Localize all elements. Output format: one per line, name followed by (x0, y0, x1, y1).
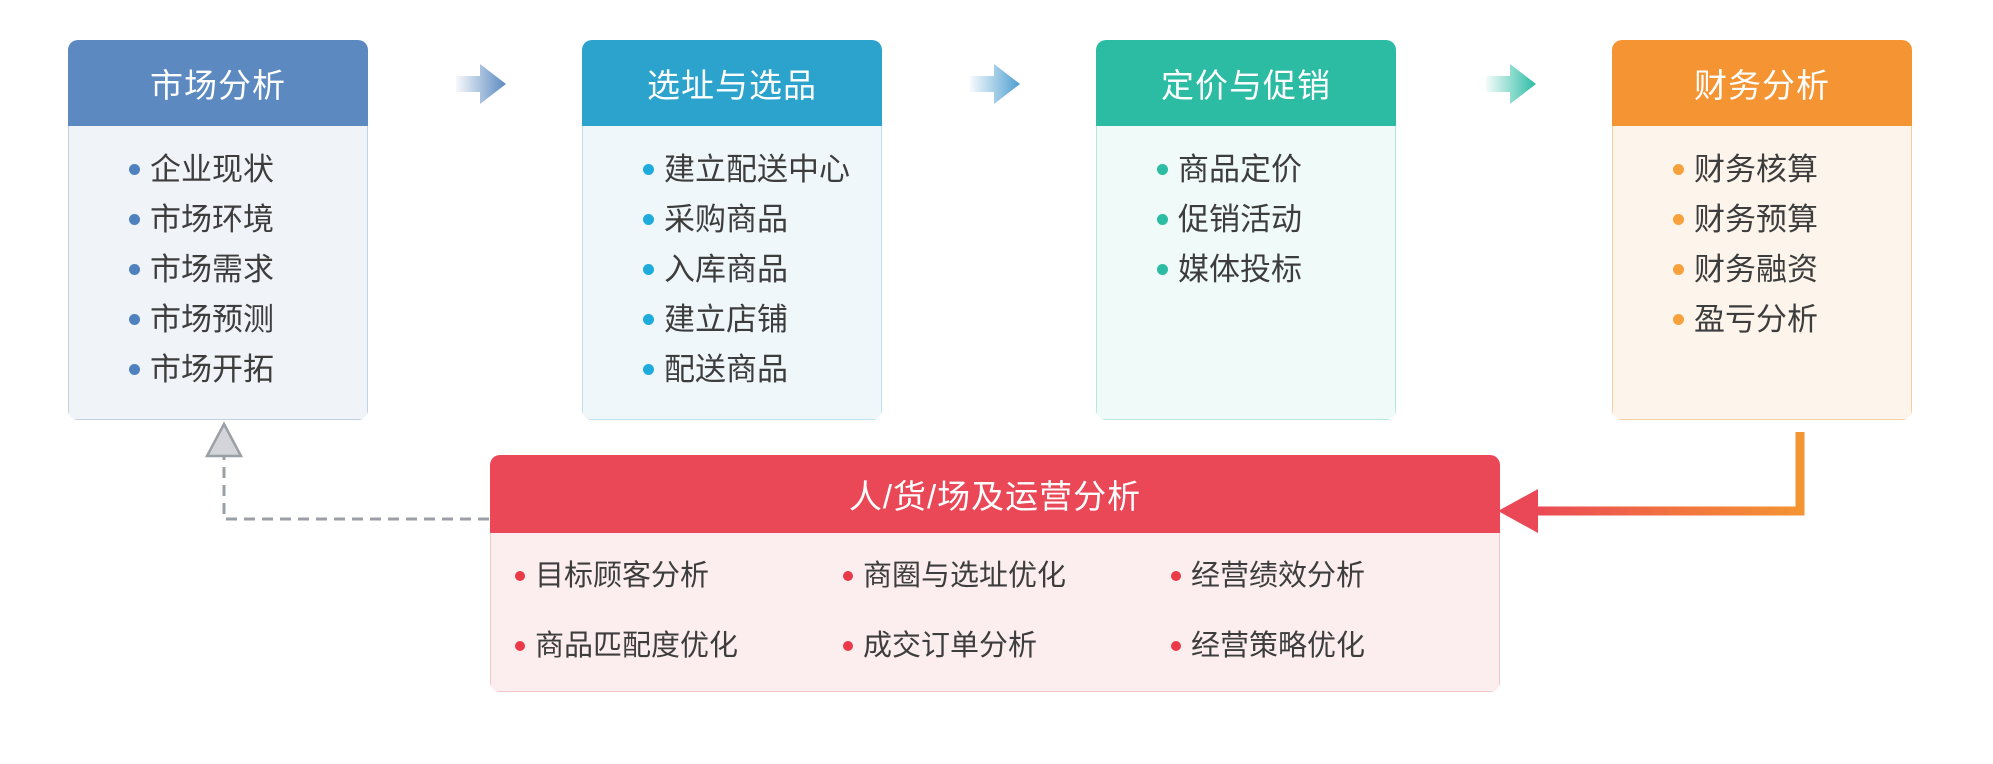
bullet-dot-icon (843, 641, 853, 651)
list-item-label: 财务融资 (1694, 254, 1818, 285)
list-item[interactable]: 财务融资 (1613, 244, 1911, 294)
list-item-label: 媒体投标 (1178, 254, 1302, 285)
bullet-dot-icon (643, 214, 654, 225)
bullet-dot-icon (1157, 164, 1168, 175)
analysis-panel-body: 目标顾客分析 商圈与选址优化 经营绩效分析 商品匹配度优化 成交订单分析 经营策… (490, 533, 1500, 692)
list-item[interactable]: 采购商品 (583, 194, 881, 244)
stage-card-header: 选址与选品 (582, 40, 882, 126)
stage-card-site-and-product-selection[interactable]: 选址与选品 建立配送中心 采购商品 入库商品 建立店铺 (582, 40, 882, 420)
bullet-dot-icon (129, 164, 140, 175)
list-item-label: 成交订单分析 (863, 632, 1037, 661)
list-item[interactable]: 商品定价 (1097, 144, 1395, 194)
list-item-label: 市场预测 (150, 304, 274, 335)
list-item[interactable]: 目标顾客分析 (515, 541, 843, 611)
stage-card-header: 市场分析 (68, 40, 368, 126)
bullet-dot-icon (129, 364, 140, 375)
diagram-canvas: 市场分析 企业现状 市场环境 市场需求 市场预测 (0, 0, 1993, 764)
list-item-label: 市场需求 (150, 254, 274, 285)
bullet-dot-icon (1673, 264, 1684, 275)
list-item-label: 盈亏分析 (1694, 304, 1818, 335)
list-item[interactable]: 市场需求 (69, 244, 367, 294)
stage-card-header: 财务分析 (1612, 40, 1912, 126)
bullet-dot-icon (515, 571, 525, 581)
list-item[interactable]: 经营绩效分析 (1171, 541, 1499, 611)
bullet-dot-icon (843, 571, 853, 581)
stage-item-list: 建立配送中心 采购商品 入库商品 建立店铺 配送商品 (583, 144, 881, 394)
list-item[interactable]: 配送商品 (583, 344, 881, 394)
stage-item-list: 商品定价 促销活动 媒体投标 (1097, 144, 1395, 294)
flow-arrow-right-icon (966, 55, 1024, 113)
list-item-label: 建立店铺 (664, 304, 788, 335)
list-item-label: 促销活动 (1178, 204, 1302, 235)
list-item-label: 商品定价 (1178, 154, 1302, 185)
list-item[interactable]: 入库商品 (583, 244, 881, 294)
analysis-panel[interactable]: 人/货/场及运营分析 目标顾客分析 商圈与选址优化 经营绩效分析 商品匹配度优化… (490, 455, 1500, 692)
list-item[interactable]: 媒体投标 (1097, 244, 1395, 294)
list-item-label: 建立配送中心 (664, 154, 850, 185)
list-item[interactable]: 市场环境 (69, 194, 367, 244)
list-item-label: 配送商品 (664, 354, 788, 385)
bullet-dot-icon (515, 641, 525, 651)
bullet-dot-icon (1673, 214, 1684, 225)
list-item-label: 入库商品 (664, 254, 788, 285)
list-item[interactable]: 商圈与选址优化 (843, 541, 1171, 611)
list-item-label: 采购商品 (664, 204, 788, 235)
list-item[interactable]: 财务核算 (1613, 144, 1911, 194)
bullet-dot-icon (643, 314, 654, 325)
bullet-dot-icon (1157, 214, 1168, 225)
bullet-dot-icon (129, 264, 140, 275)
bullet-dot-icon (1673, 164, 1684, 175)
bullet-dot-icon (1673, 314, 1684, 325)
list-item[interactable]: 建立配送中心 (583, 144, 881, 194)
bullet-dot-icon (129, 314, 140, 325)
list-item[interactable]: 促销活动 (1097, 194, 1395, 244)
list-item[interactable]: 企业现状 (69, 144, 367, 194)
list-item[interactable]: 市场开拓 (69, 344, 367, 394)
list-item-label: 商品匹配度优化 (535, 632, 738, 661)
list-item[interactable]: 商品匹配度优化 (515, 611, 843, 681)
flow-arrow-right-icon (452, 55, 510, 113)
stage-card-financial-analysis[interactable]: 财务分析 财务核算 财务预算 财务融资 盈亏分析 (1612, 40, 1912, 420)
flow-arrow-right-icon (1482, 55, 1540, 113)
stage-card-header: 定价与促销 (1096, 40, 1396, 126)
list-item-label: 市场开拓 (150, 354, 274, 385)
list-item-label: 目标顾客分析 (535, 562, 709, 591)
bullet-dot-icon (129, 214, 140, 225)
bullet-dot-icon (643, 264, 654, 275)
list-item-label: 经营策略优化 (1191, 632, 1365, 661)
list-item-label: 商圈与选址优化 (863, 562, 1066, 591)
stage-item-list: 企业现状 市场环境 市场需求 市场预测 市场开拓 (69, 144, 367, 394)
list-item-label: 财务核算 (1694, 154, 1818, 185)
stage-card-body: 建立配送中心 采购商品 入库商品 建立店铺 配送商品 (582, 126, 882, 420)
list-item-label: 财务预算 (1694, 204, 1818, 235)
list-item[interactable]: 建立店铺 (583, 294, 881, 344)
bullet-dot-icon (1171, 571, 1181, 581)
list-item-label: 市场环境 (150, 204, 274, 235)
bullet-dot-icon (1171, 641, 1181, 651)
list-item[interactable]: 经营策略优化 (1171, 611, 1499, 681)
list-item[interactable]: 成交订单分析 (843, 611, 1171, 681)
bullet-dot-icon (643, 164, 654, 175)
stage-card-body: 企业现状 市场环境 市场需求 市场预测 市场开拓 (68, 126, 368, 420)
stage-item-list: 财务核算 财务预算 财务融资 盈亏分析 (1613, 144, 1911, 344)
list-item-label: 企业现状 (150, 154, 274, 185)
stage-card-market-analysis[interactable]: 市场分析 企业现状 市场环境 市场需求 市场预测 (68, 40, 368, 420)
stage-card-pricing-and-promotion[interactable]: 定价与促销 商品定价 促销活动 媒体投标 (1096, 40, 1396, 420)
bullet-dot-icon (1157, 264, 1168, 275)
list-item[interactable]: 市场预测 (69, 294, 367, 344)
list-item[interactable]: 财务预算 (1613, 194, 1911, 244)
list-item-label: 经营绩效分析 (1191, 562, 1365, 591)
bullet-dot-icon (643, 364, 654, 375)
stage-card-body: 商品定价 促销活动 媒体投标 (1096, 126, 1396, 420)
stage-card-body: 财务核算 财务预算 财务融资 盈亏分析 (1612, 126, 1912, 420)
analysis-panel-title: 人/货/场及运营分析 (490, 455, 1500, 533)
list-item[interactable]: 盈亏分析 (1613, 294, 1911, 344)
